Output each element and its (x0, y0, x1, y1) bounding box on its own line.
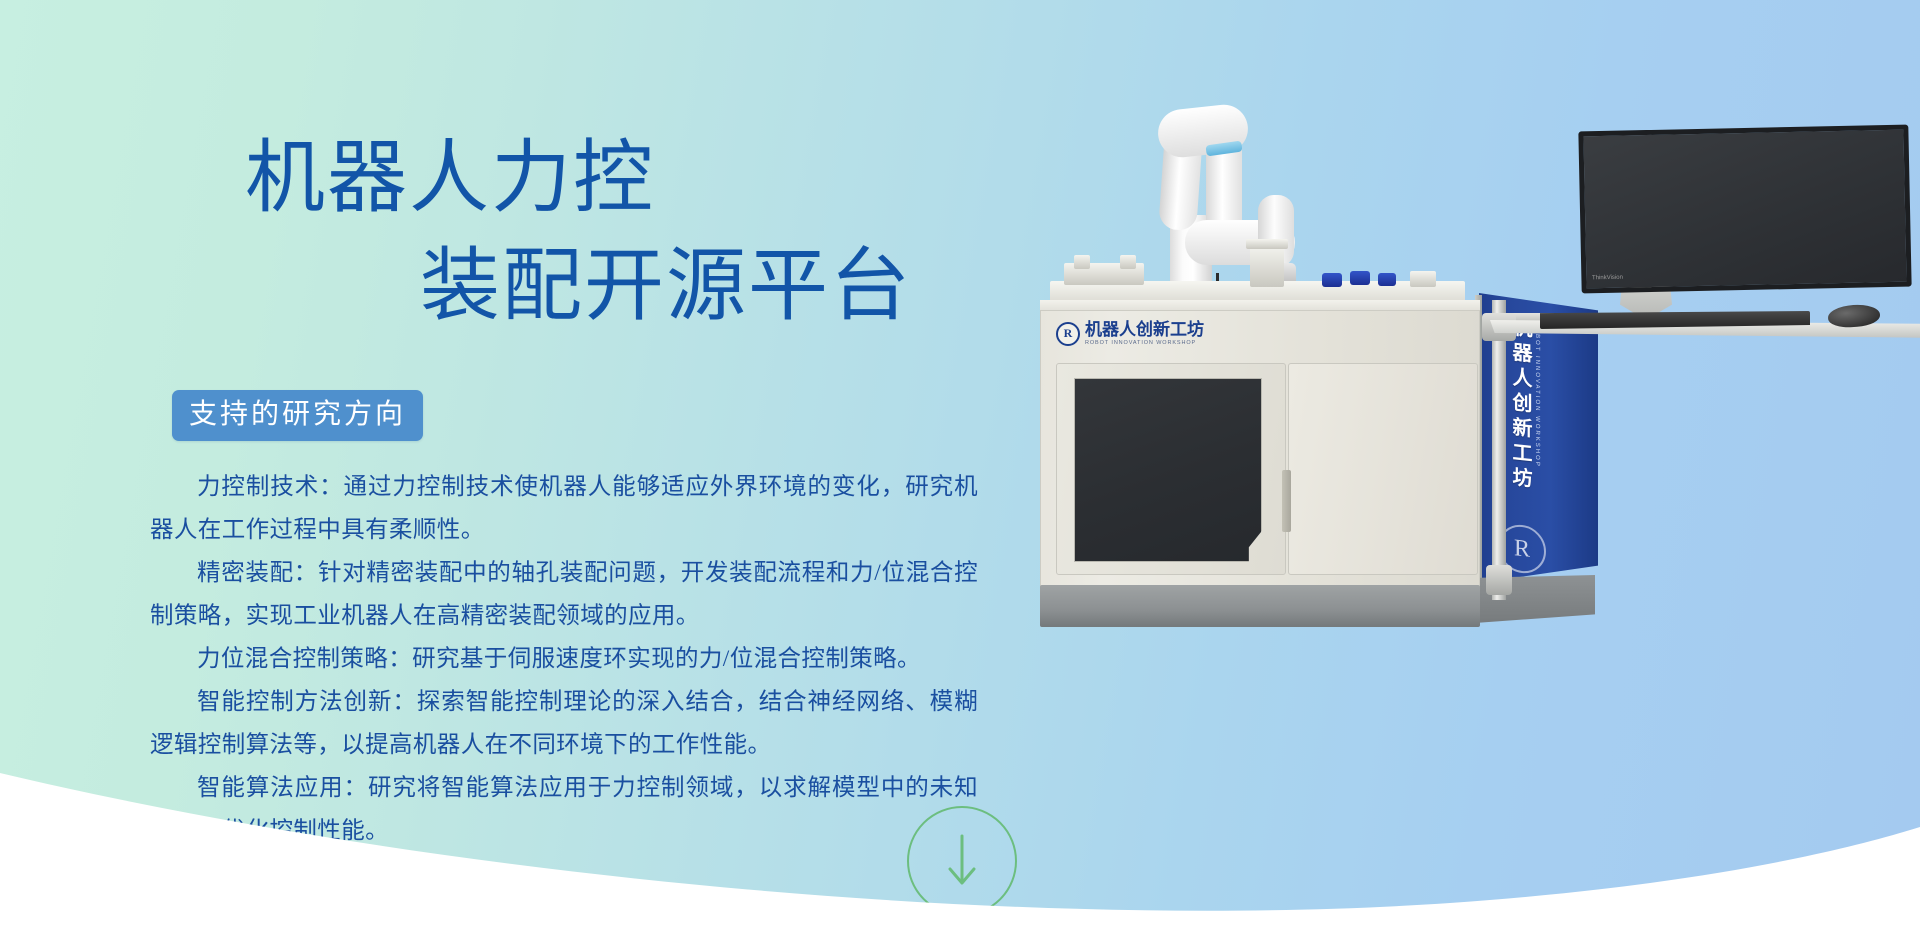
cabinet-logo: R 机器人创新工坊 ROBOT INNOVATION WORKSHOP (1056, 321, 1204, 347)
cabinet-side-text-en: ROBOT INNOVATION WORKSHOP (1534, 321, 1540, 468)
cabinet-door-right (1288, 363, 1478, 575)
fixture-right-block (1410, 271, 1436, 287)
fixture-post-left (1074, 255, 1090, 269)
list-item: 智能控制方法创新：探索智能控制理论的深入结合，结合神经网络、模糊逻辑控制算法等，… (150, 681, 978, 767)
research-directions-list: 力控制技术：通过力控制技术使机器人能够适应外界环境的变化，研究机器人在工作过程中… (150, 466, 978, 853)
list-item: 智能算法应用：研究将智能算法应用于力控制领域，以求解模型中的未知参数并优化控制性… (150, 767, 978, 853)
cabinet-viewing-window (1074, 378, 1262, 562)
cabinet-logo-cn: 机器人创新工坊 (1085, 321, 1204, 338)
fixture-tower-cap (1246, 239, 1288, 249)
robot-platform-photo: R 机器人创新工坊 ROBOT INNOVATION WORKSHOP 机器人创… (1020, 95, 1920, 815)
blue-part-2 (1350, 271, 1370, 285)
page-title-line-2: 装配开源平台 (420, 243, 912, 333)
cabinet-base (1040, 585, 1480, 627)
cabinet-side-text: 机器人创新工坊 (1506, 315, 1535, 493)
page-title-line-1: 机器人力控 (245, 135, 655, 225)
scroll-down-button[interactable] (907, 806, 1017, 916)
monitor-brand-label: ThinkVision (1592, 275, 1623, 282)
list-item: 力控制技术：通过力控制技术使机器人能够适应外界环境的变化，研究机器人在工作过程中… (150, 466, 978, 552)
list-item: 精密装配：针对精密装配中的轴孔装配问题，开发装配流程和力/位混合控制策略，实现工… (150, 552, 978, 638)
fixture-tower (1250, 245, 1284, 287)
blue-part-1 (1322, 273, 1342, 287)
monitor-mount-pole (1492, 300, 1506, 600)
hero-text-column: 机器人力控 装配开源平台 支持的研究方向 力控制技术：通过力控制技术使机器人能够… (0, 0, 1010, 937)
workshop-logo-icon: R (1056, 322, 1080, 346)
fixture-post-right (1120, 255, 1136, 269)
cabinet-door-handle (1282, 470, 1291, 532)
arrow-down-icon (942, 832, 982, 890)
list-item: 力位混合控制策略：研究基于伺服速度环实现的力/位混合控制策略。 (150, 638, 978, 681)
cabinet-logo-en: ROBOT INNOVATION WORKSHOP (1085, 341, 1204, 347)
hero-banner: 机器人力控 装配开源平台 支持的研究方向 力控制技术：通过力控制技术使机器人能够… (0, 0, 1920, 937)
monitor-screen (1578, 125, 1911, 294)
monitor-pole-clamp (1486, 565, 1512, 595)
blue-part-3 (1378, 273, 1396, 286)
status-badge-research-directions: 支持的研究方向 (172, 390, 423, 441)
